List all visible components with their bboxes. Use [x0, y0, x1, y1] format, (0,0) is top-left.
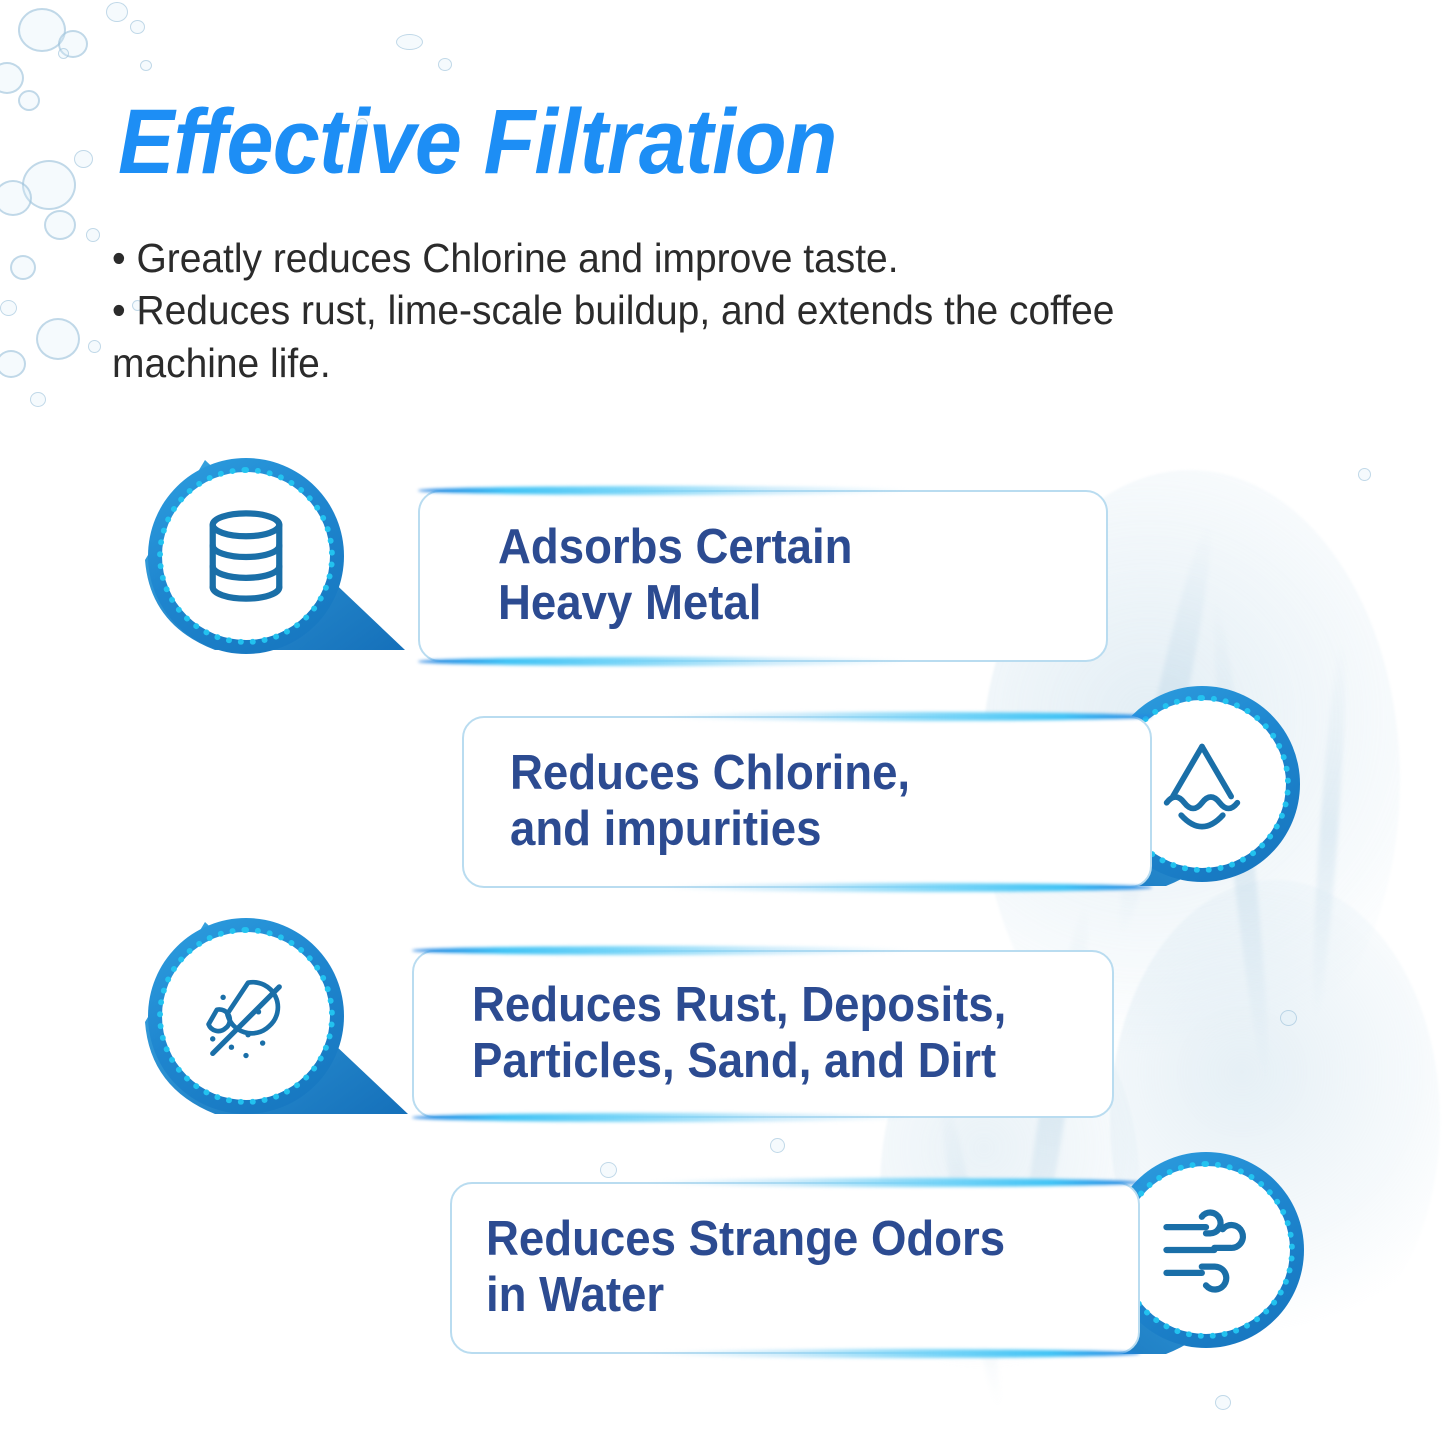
page-title: Effective Filtration — [118, 96, 836, 188]
feature-card-label-3: Reduces Rust, Deposits, Particles, Sand,… — [472, 978, 1006, 1090]
feature-card-4[interactable]: Reduces Strange Odors in Water — [450, 1182, 1140, 1354]
cylinder-stack-icon — [179, 489, 313, 623]
feature-card-3[interactable]: Reduces Rust, Deposits, Particles, Sand,… — [412, 950, 1114, 1118]
feature-card-2[interactable]: Reduces Chlorine, and impurities — [462, 716, 1152, 888]
wind-airflow-icon — [1139, 1183, 1273, 1317]
feature-card-label-2: Reduces Chlorine, and impurities — [510, 746, 910, 858]
infographic-canvas: Effective Filtration • Greatly reduces C… — [0, 0, 1445, 1454]
water-drop-waves-icon — [1135, 717, 1269, 851]
bullet-item-1: • Greatly reduces Chlorine and improve t… — [112, 232, 1290, 284]
benefit-bullet-list: • Greatly reduces Chlorine and improve t… — [112, 232, 1290, 389]
feature-card-label-1: Adsorbs Certain Heavy Metal — [498, 520, 853, 632]
bullet-item-2: • Reduces rust, lime-scale buildup, and … — [112, 284, 1290, 389]
feature-badge-3 — [148, 918, 344, 1114]
feature-card-1[interactable]: Adsorbs Certain Heavy Metal — [418, 490, 1108, 662]
no-water-particles-icon — [179, 949, 313, 1083]
feature-card-label-4: Reduces Strange Odors in Water — [486, 1212, 1005, 1324]
feature-badge-1 — [148, 458, 344, 654]
